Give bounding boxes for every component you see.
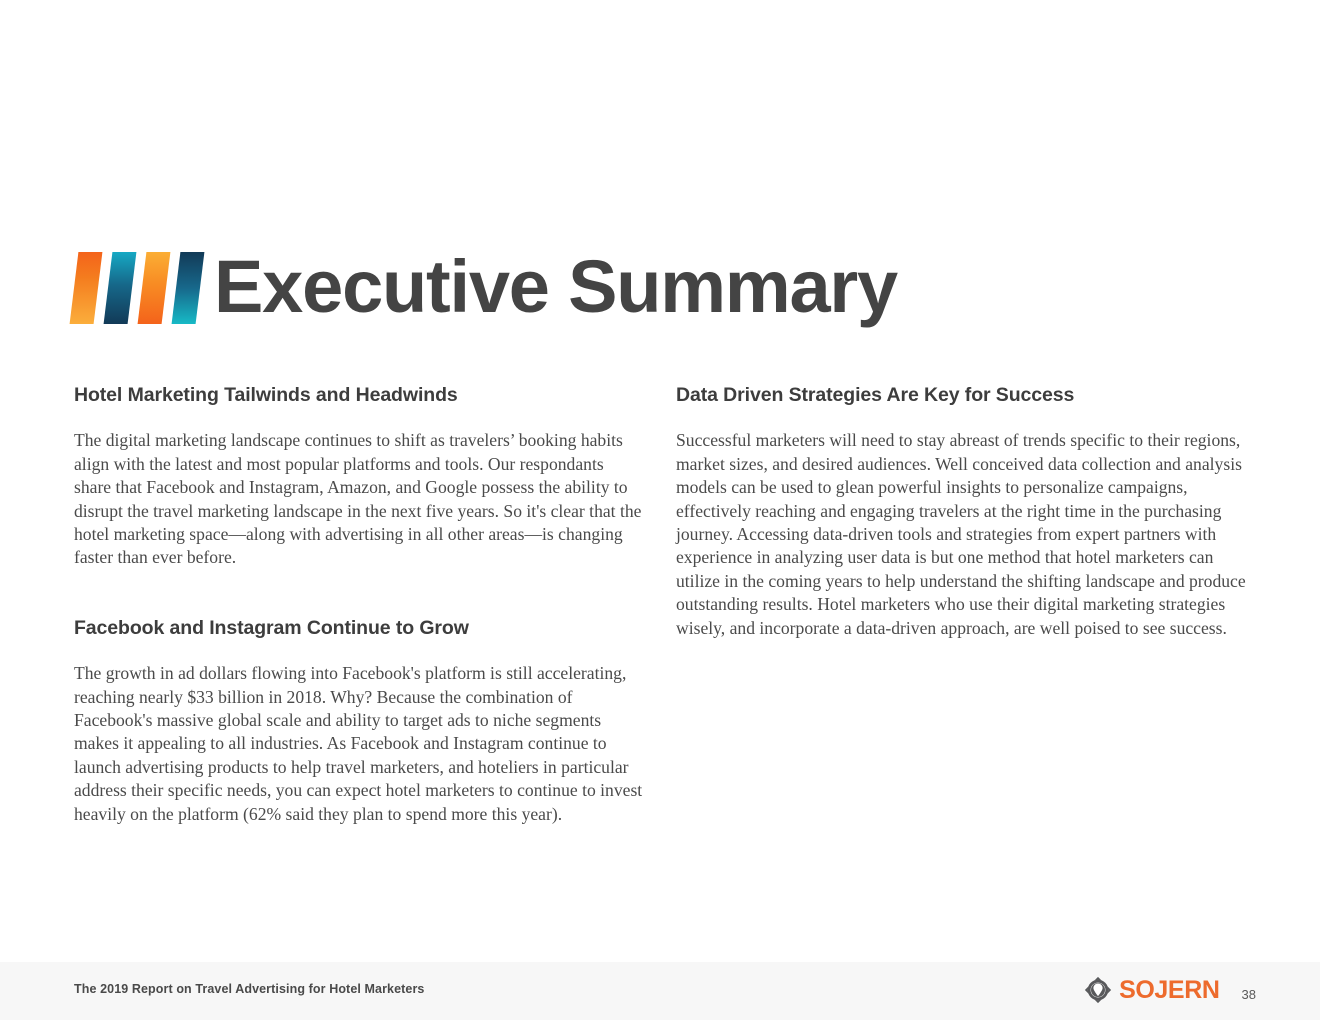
accent-bars-logo — [74, 252, 200, 324]
left-column: Hotel Marketing Tailwinds and Headwinds … — [74, 383, 644, 826]
page-title: Executive Summary — [214, 250, 897, 324]
accent-bar-teal-4 — [172, 252, 205, 324]
content-columns: Hotel Marketing Tailwinds and Headwinds … — [74, 383, 1246, 826]
accent-bar-orange-1 — [70, 252, 103, 324]
accent-bar-orange-3 — [138, 252, 171, 324]
heading-facebook-instagram-grow: Facebook and Instagram Continue to Grow — [74, 616, 644, 640]
sojern-compass-icon — [1084, 976, 1112, 1004]
paragraph-data-driven-strategies: Successful marketers will need to stay a… — [676, 429, 1246, 640]
sojern-logo: SOJERN — [1084, 976, 1219, 1004]
paragraph-hotel-marketing-tailwinds: The digital marketing landscape continue… — [74, 429, 644, 569]
page-number: 38 — [1242, 979, 1256, 1002]
slide-canvas: Executive Summary Hotel Marketing Tailwi… — [0, 0, 1320, 1020]
right-column: Data Driven Strategies Are Key for Succe… — [676, 383, 1246, 826]
heading-data-driven-strategies: Data Driven Strategies Are Key for Succe… — [676, 383, 1246, 407]
heading-hotel-marketing-tailwinds: Hotel Marketing Tailwinds and Headwinds — [74, 383, 644, 407]
paragraph-facebook-instagram-grow: The growth in ad dollars flowing into Fa… — [74, 662, 644, 826]
page-footer: The 2019 Report on Travel Advertising fo… — [0, 962, 1320, 1020]
footer-report-title: The 2019 Report on Travel Advertising fo… — [74, 982, 424, 996]
page-title-row: Executive Summary — [74, 238, 897, 336]
sojern-wordmark: SOJERN — [1119, 978, 1219, 1003]
footer-right-group: SOJERN 38 — [1084, 976, 1256, 1004]
accent-bar-teal-2 — [104, 252, 137, 324]
